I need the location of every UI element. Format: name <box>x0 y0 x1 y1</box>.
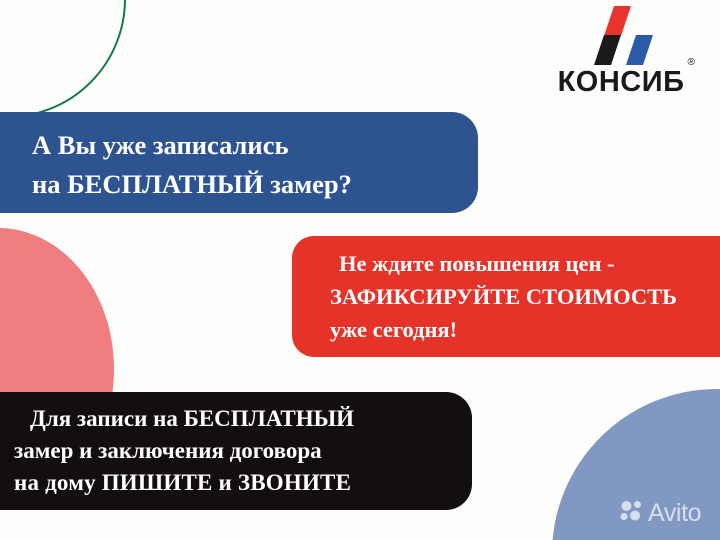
brand-logo: КОНСИБ® <box>546 6 696 97</box>
banner-red-line-3: уже сегодня! <box>330 313 720 346</box>
avito-watermark: Avito <box>620 500 701 527</box>
banner-red-line-2: ЗАФИКСИРУЙТЕ СТОИМОСТЬ <box>330 280 720 313</box>
banner-contact-call-to-action: Для записи на БЕСПЛАТНЫЙ замер и заключе… <box>0 392 472 510</box>
banner-blue-line-2: на БЕСПЛАТНЫЙ замер? <box>32 165 478 204</box>
registered-trademark-icon: ® <box>688 58 696 68</box>
promo-poster: КОНСИБ® А Вы уже записались на БЕСПЛАТНЫ… <box>0 0 720 540</box>
avito-wordmark: Avito <box>648 501 701 526</box>
banner-black-line-1: Для записи на БЕСПЛАТНЫЙ <box>14 403 472 435</box>
banner-blue-line-1: А Вы уже записались <box>32 126 478 165</box>
banner-free-measurement-question: А Вы уже записались на БЕСПЛАТНЫЙ замер? <box>0 112 478 213</box>
banner-black-line-2: замер и заключения договора <box>14 435 472 467</box>
green-circle-outline-decoration <box>0 0 126 118</box>
banner-red-line-1: Не ждите повышения цен - <box>330 247 720 280</box>
konsib-logo-mark-icon <box>584 6 658 66</box>
brand-name: КОНСИБ® <box>558 68 685 97</box>
banner-black-line-3: на дому ПИШИТЕ и ЗВОНИТЕ <box>14 467 472 499</box>
banner-price-lock: Не ждите повышения цен - ЗАФИКСИРУЙТЕ СТ… <box>292 236 720 357</box>
avito-dots-icon <box>620 500 644 527</box>
brand-name-text: КОНСИБ <box>558 66 685 98</box>
